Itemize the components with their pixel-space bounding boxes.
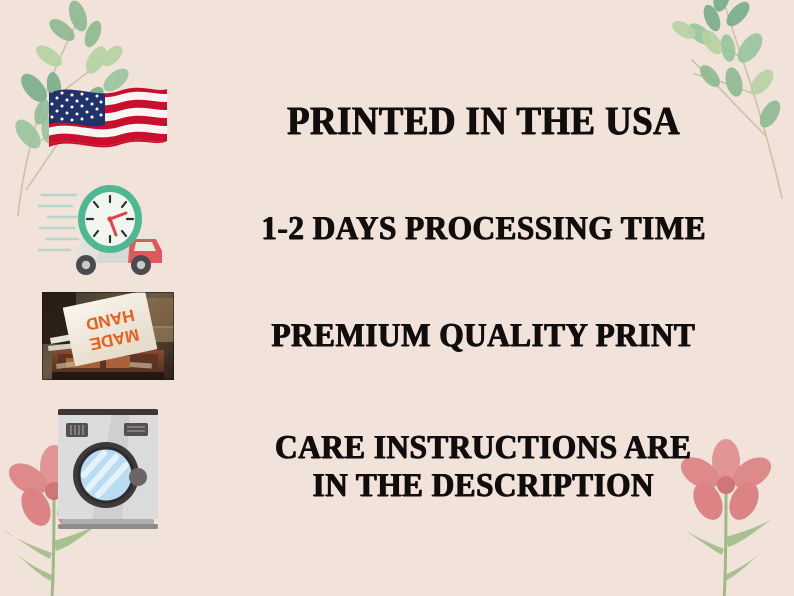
feature-icon-cell xyxy=(0,177,215,281)
feature-text-cell: PRINTED IN THE USA xyxy=(215,99,794,144)
feature-row-care-instructions: CARE INSTRUCTIONS ARE IN THE DESCRIPTION xyxy=(0,392,794,542)
feature-text-printed-in-usa: PRINTED IN THE USA xyxy=(287,99,680,144)
feature-icon-cell xyxy=(0,403,215,531)
feature-text-premium-quality: PREMIUM QUALITY PRINT xyxy=(272,317,696,355)
feature-row-processing-time: 1-2 DAYS PROCESSING TIME xyxy=(0,175,794,283)
promo-poster: PRINTED IN THE USA xyxy=(0,0,794,596)
feature-row-printed-in-usa: PRINTED IN THE USA xyxy=(0,78,794,164)
feature-icon-cell xyxy=(0,79,215,163)
feature-text-processing-time: 1-2 DAYS PROCESSING TIME xyxy=(261,210,706,248)
feature-text-cell: CARE INSTRUCTIONS ARE IN THE DESCRIPTION xyxy=(215,429,794,505)
screen-printing-photo: HAND MADE xyxy=(42,292,174,380)
fast-delivery-clock-icon xyxy=(38,177,178,281)
care-text-line-2: IN THE DESCRIPTION xyxy=(275,467,691,505)
feature-text-care-instructions: CARE INSTRUCTIONS ARE IN THE DESCRIPTION xyxy=(275,429,691,505)
feature-row-premium-quality: HAND MADE PREMIUM QUALITY PRINT xyxy=(0,288,794,384)
feature-icon-cell: HAND MADE xyxy=(0,292,215,380)
us-flag-icon xyxy=(45,79,171,163)
feature-text-cell: 1-2 DAYS PROCESSING TIME xyxy=(215,210,794,248)
washing-machine-icon xyxy=(52,403,164,531)
care-text-line-1: CARE INSTRUCTIONS ARE xyxy=(275,429,691,467)
feature-text-cell: PREMIUM QUALITY PRINT xyxy=(215,317,794,355)
